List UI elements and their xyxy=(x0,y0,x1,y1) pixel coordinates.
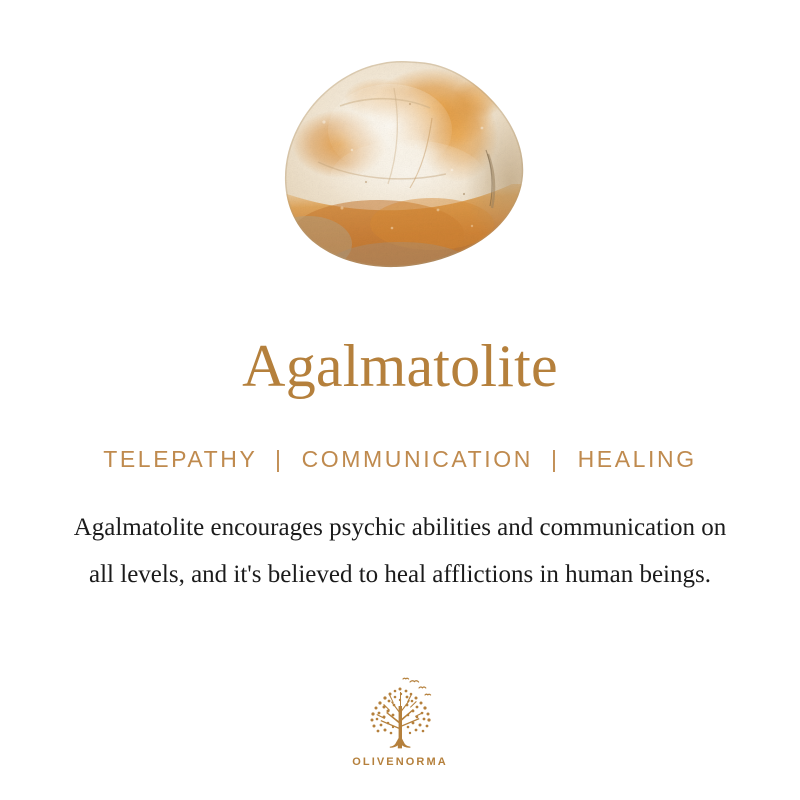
keyword-telepathy: TELEPATHY xyxy=(103,446,257,472)
stone-info-card: Agalmatolite TELEPATHY | COMMUNICATION |… xyxy=(0,0,800,800)
keyword-communication: COMMUNICATION xyxy=(302,446,533,472)
keyword-separator: | xyxy=(266,446,293,473)
agalmatolite-stone-illustration xyxy=(282,58,530,274)
logo-wordmark: OLIVENORMA xyxy=(352,756,448,768)
stone-image xyxy=(282,58,530,274)
olive-tree-icon xyxy=(357,676,443,754)
brand-logo: OLIVENORMA xyxy=(0,676,800,768)
page-title: Agalmatolite xyxy=(0,336,800,396)
keyword-list: TELEPATHY | COMMUNICATION | HEALING xyxy=(0,446,800,473)
keyword-separator: | xyxy=(542,446,569,473)
keyword-healing: HEALING xyxy=(578,446,697,472)
description-text: Agalmatolite encourages psychic abilitie… xyxy=(60,504,740,598)
